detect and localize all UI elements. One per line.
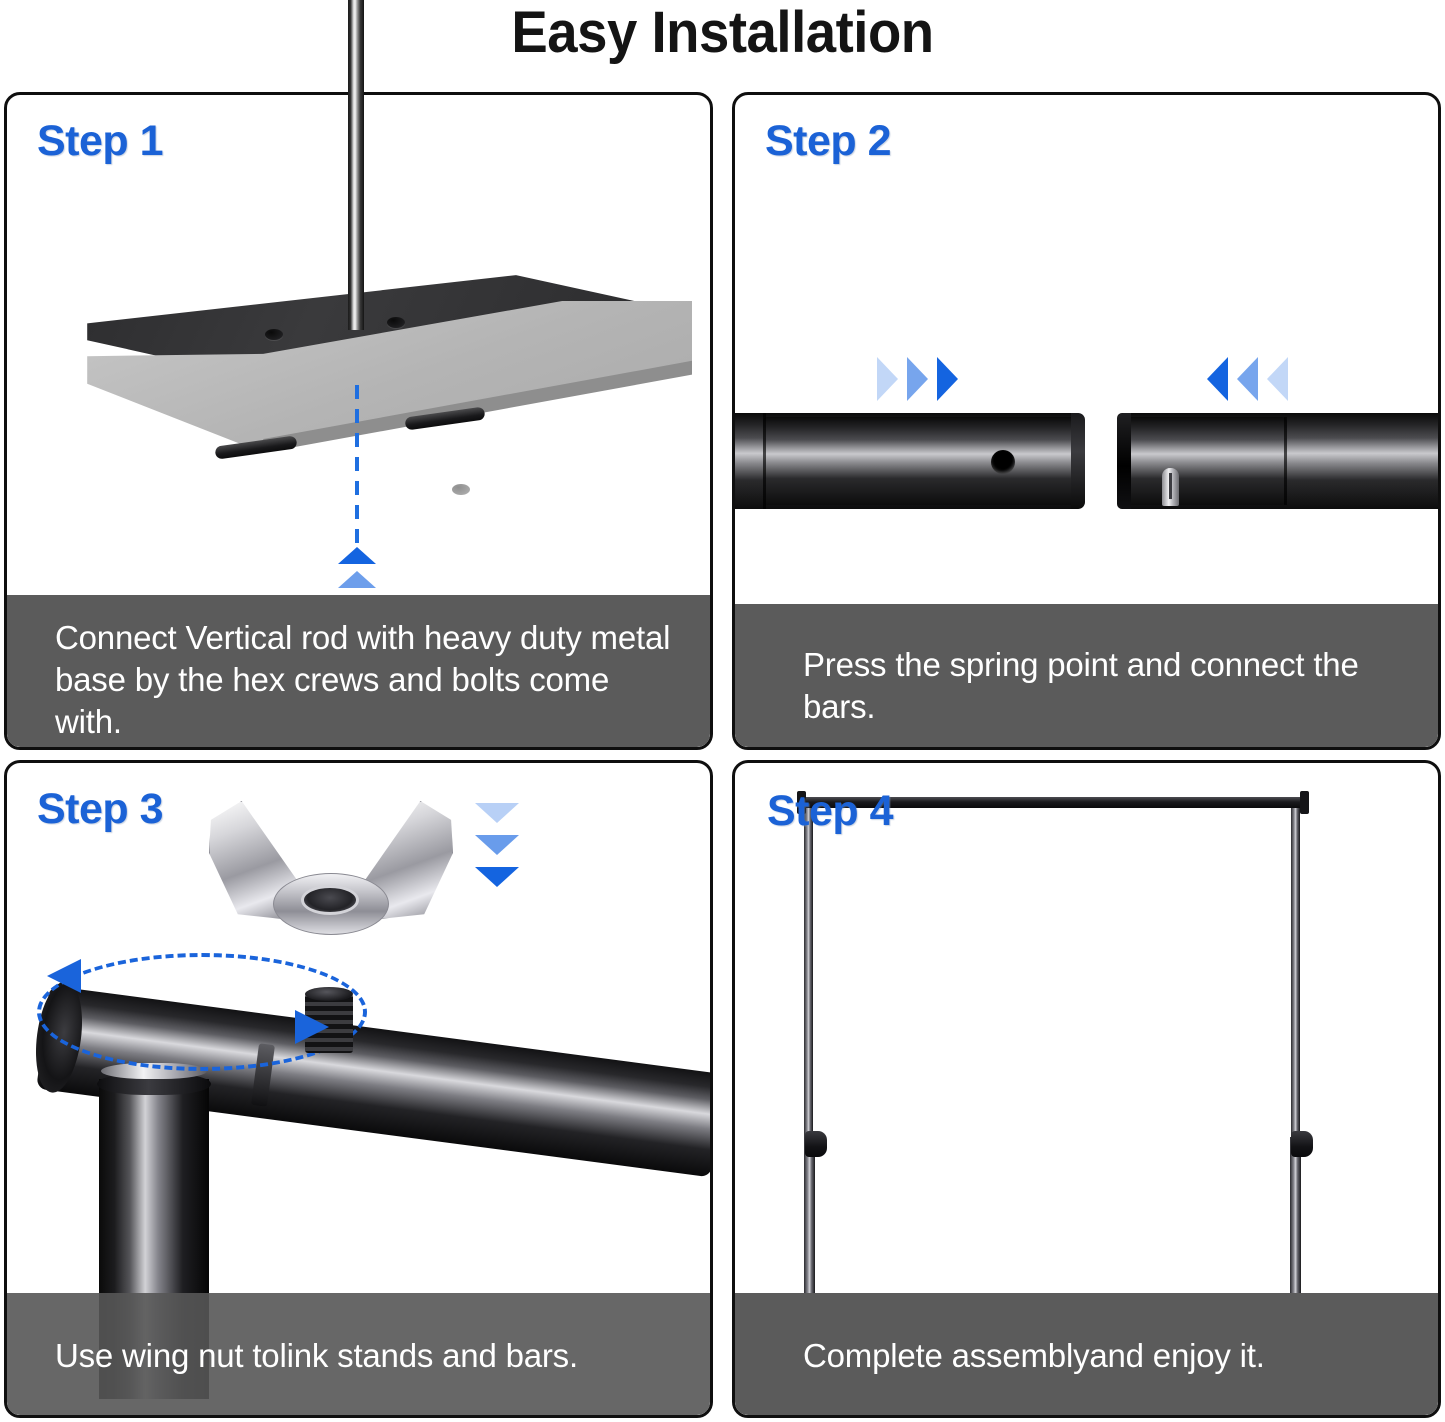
- metal-base-plate: [52, 273, 692, 533]
- step-3-label: Step 3: [37, 785, 163, 834]
- right-bar-seam: [1284, 417, 1287, 505]
- chevron-right-icon: [907, 357, 928, 401]
- vertical-rod: [348, 0, 364, 330]
- step-2-label: Step 2: [765, 117, 891, 166]
- left-bar-seam: [763, 413, 766, 509]
- rotation-arrow-left-icon: [47, 959, 81, 993]
- right-pole-upper: [1291, 803, 1300, 1143]
- chevron-left-icon: [1237, 357, 1258, 401]
- crossbar-tip-right: [1300, 791, 1309, 814]
- left-arrow-chevrons: [1207, 357, 1317, 403]
- base-plate-hole-front: [452, 484, 470, 495]
- step-panel-3: Use wing nut tolink stands and bars. Ste…: [4, 760, 713, 1418]
- step-panel-1: Connect Vertical rod with heavy duty met…: [4, 92, 713, 750]
- step-2-caption: Press the spring point and connect the b…: [735, 604, 1438, 747]
- step-2-artwork-clip: Press the spring point and connect the b…: [735, 95, 1438, 747]
- step-1-label: Step 1: [37, 117, 163, 166]
- chevron-right-icon: [937, 357, 958, 401]
- alignment-dashed-line: [355, 385, 359, 553]
- chevron-up-icon: [338, 547, 376, 564]
- base-plate-hole-left: [265, 329, 283, 340]
- chevron-left-icon: [1267, 357, 1288, 401]
- right-bar-inner-tube: [1117, 417, 1287, 505]
- rotation-arrow-right-icon: [295, 1010, 329, 1044]
- page-title: Easy Installation: [43, 0, 1401, 86]
- right-pole-clamp-upper: [1291, 1131, 1313, 1157]
- chevron-down-icon: [475, 803, 519, 823]
- chevron-up-icon: [338, 571, 376, 588]
- left-bar-end-cap: [1071, 413, 1085, 509]
- down-arrow-chevrons: [475, 803, 521, 913]
- wing-nut: [209, 801, 453, 951]
- step-3-artwork-clip: Use wing nut tolink stands and bars.: [7, 763, 710, 1415]
- chevron-right-icon: [877, 357, 898, 401]
- step-4-caption: Complete assemblyand enjoy it.: [735, 1293, 1438, 1415]
- chevron-left-icon: [1207, 357, 1228, 401]
- step-4-artwork-clip: Complete assemblyand enjoy it.: [735, 763, 1438, 1415]
- left-bar-inner-tube: [763, 417, 1085, 505]
- left-pole-clamp-upper: [805, 1131, 827, 1157]
- base-plate-hole-right: [387, 317, 405, 328]
- step-panel-2: Press the spring point and connect the b…: [732, 92, 1441, 750]
- step-4-label: Step 4: [767, 787, 893, 836]
- spring-point-pin: [1162, 468, 1179, 506]
- threaded-bolt-top: [305, 987, 353, 1001]
- steps-grid: Connect Vertical rod with heavy duty met…: [4, 92, 1441, 1418]
- left-pole-upper: [804, 803, 813, 1143]
- step-1-caption: Connect Vertical rod with heavy duty met…: [7, 595, 710, 747]
- wing-nut-threaded-hole: [301, 885, 359, 915]
- chevron-down-icon: [475, 867, 519, 887]
- right-bar-end-cap: [1117, 413, 1131, 509]
- right-arrow-chevrons: [877, 357, 987, 403]
- step-3-caption: Use wing nut tolink stands and bars.: [7, 1293, 710, 1415]
- step-panel-4: Complete assemblyand enjoy it. Step 4: [732, 760, 1441, 1418]
- chevron-down-icon: [475, 835, 519, 855]
- spring-button-hole: [991, 450, 1015, 474]
